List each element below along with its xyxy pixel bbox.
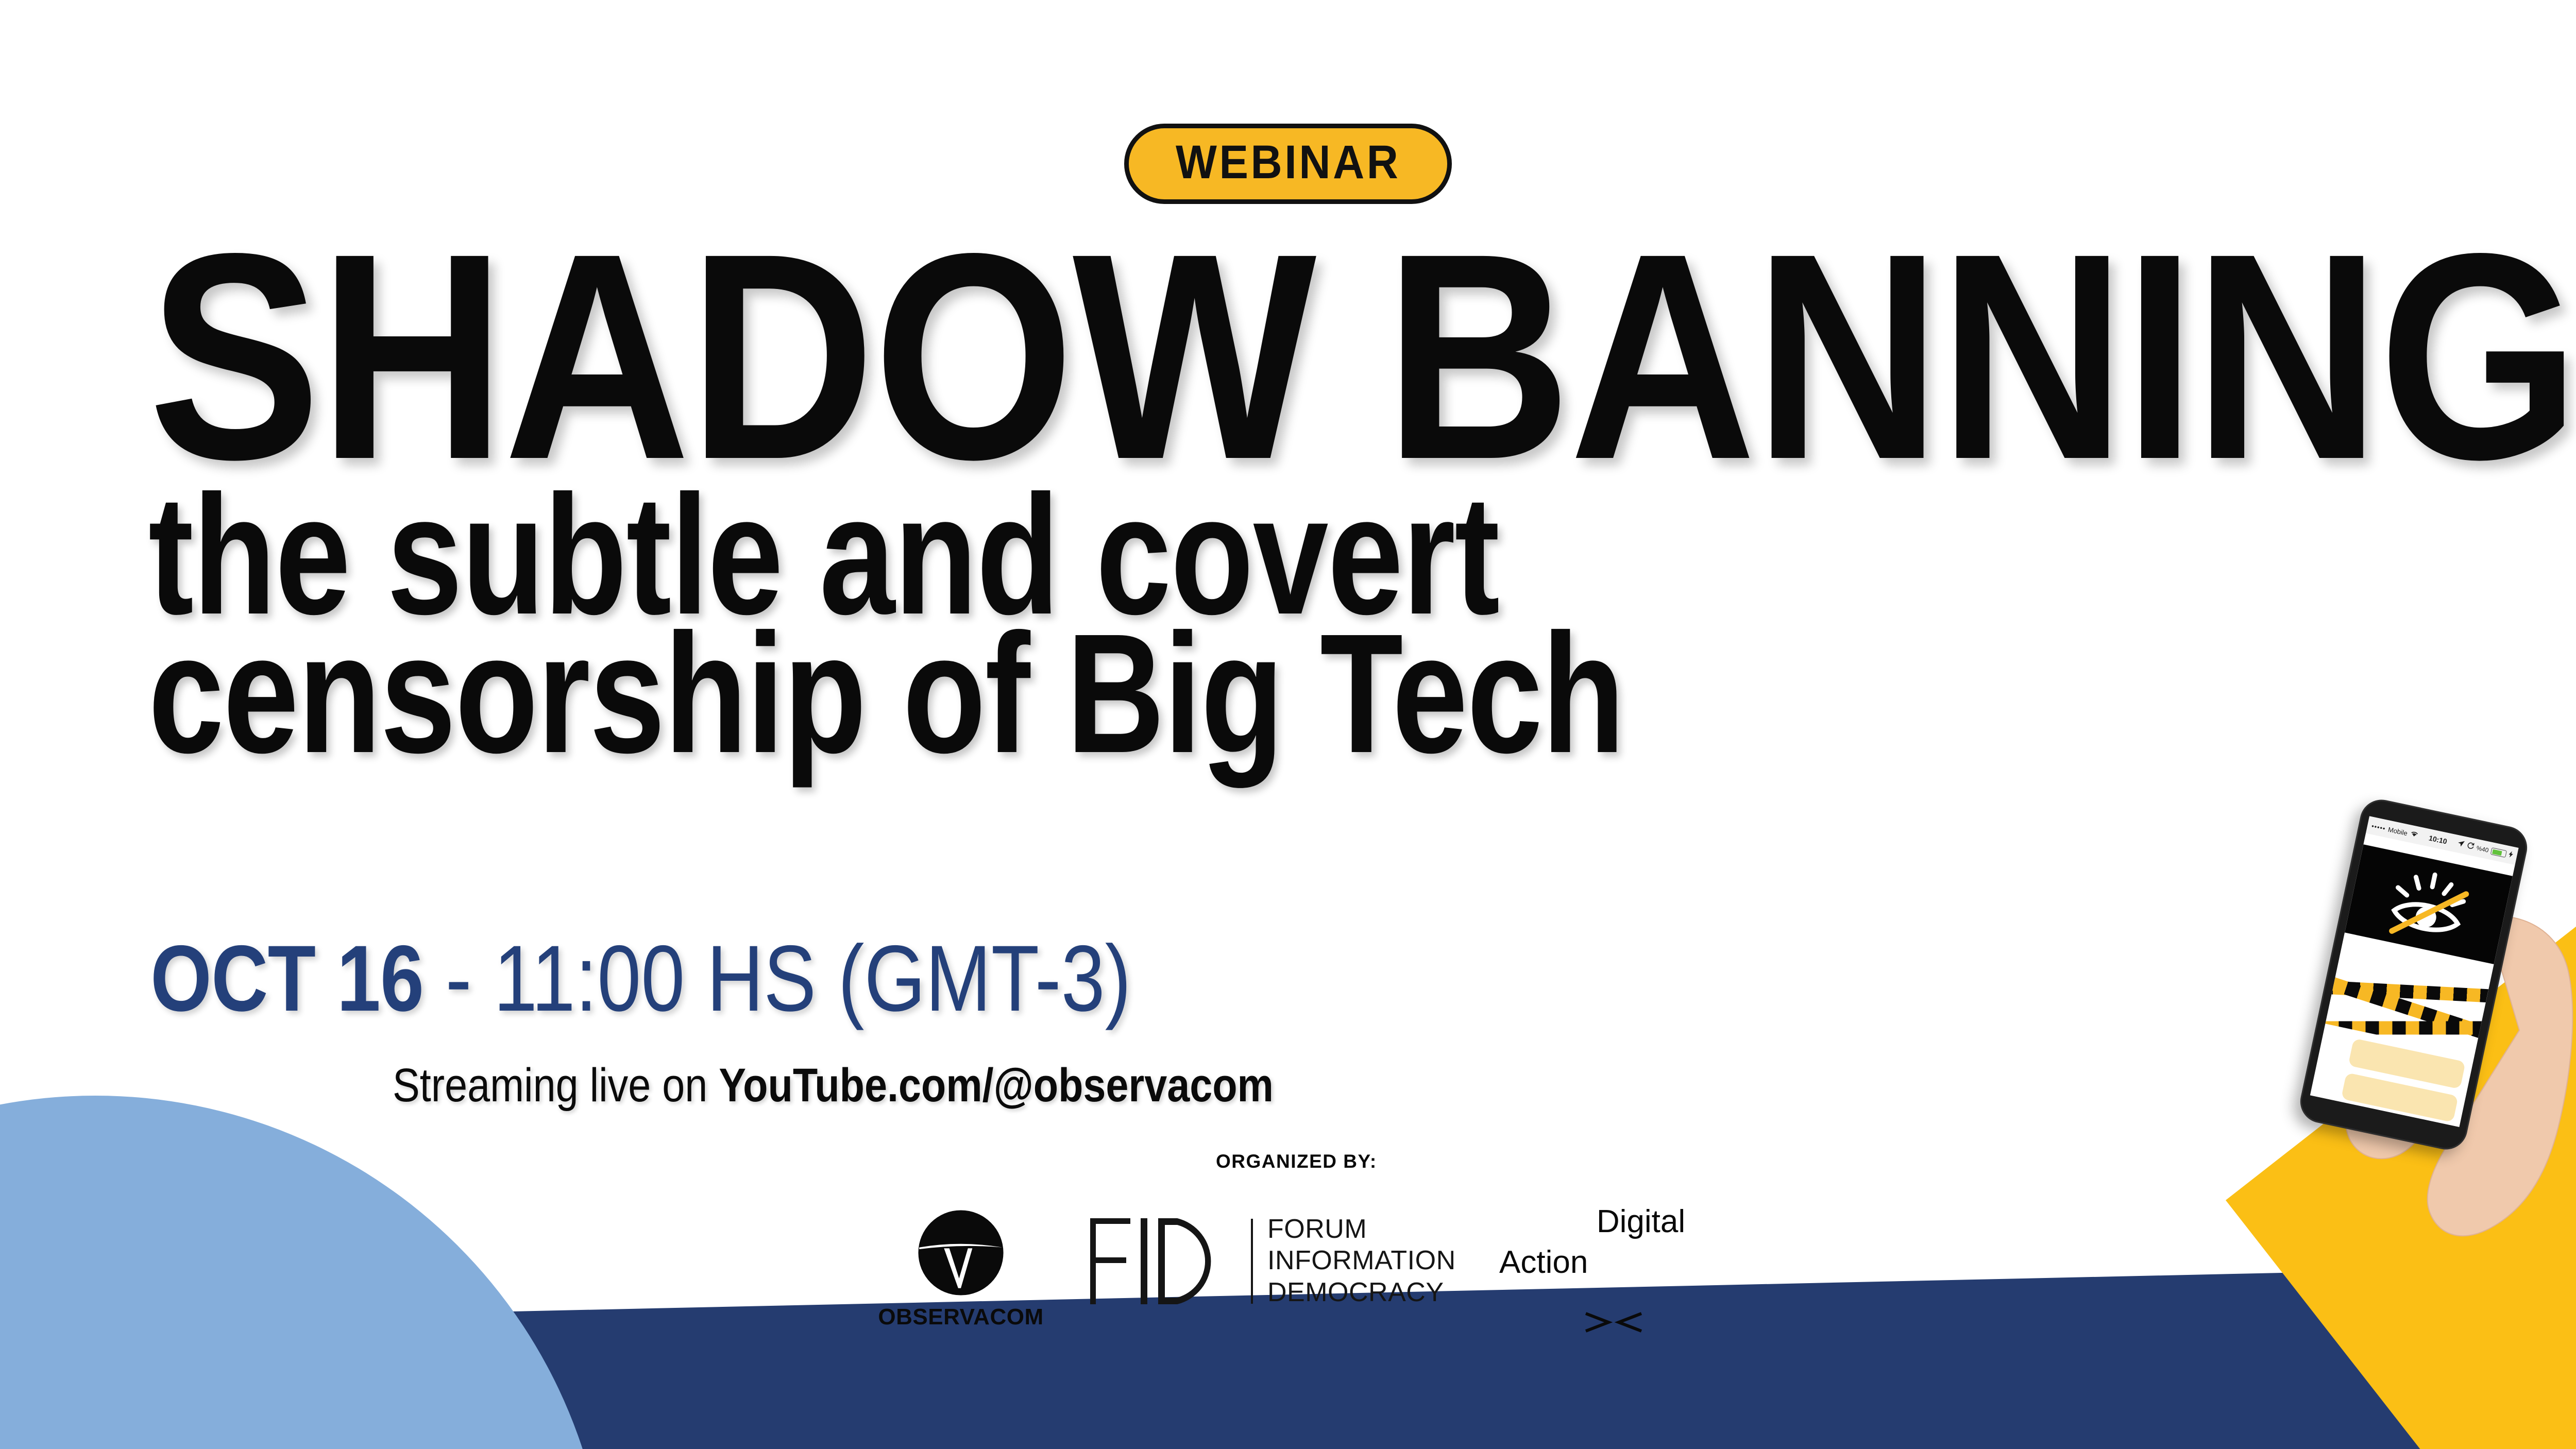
logo-observacom[interactable]: OBSERVACOM — [876, 1208, 1046, 1330]
fid-monogram-icon — [1087, 1216, 1236, 1306]
fid-word-forum: FORUM — [1267, 1214, 1456, 1245]
blue-circle-shape — [0, 1096, 608, 1449]
battery-icon — [2490, 847, 2507, 858]
refresh-icon — [2466, 841, 2475, 852]
event-datetime: OCT 16 - 11:00 HS (GMT-3) — [150, 931, 1131, 1025]
logo-digital-action[interactable]: Digital Action — [1499, 1201, 1716, 1356]
digital-action-word-digital: Digital — [1499, 1201, 1716, 1242]
location-arrow-icon — [2456, 839, 2465, 850]
fid-word-information: INFORMATION — [1267, 1245, 1456, 1276]
battery-percent-label: %40 — [2476, 844, 2489, 854]
phone-mockup-scene: ••••• Mobile 10:10 — [2282, 788, 2576, 1252]
carrier-label: Mobile — [2387, 825, 2409, 837]
fid-divider — [1251, 1219, 1253, 1304]
subtitle-line-2: censorship of Big Tech — [148, 615, 2003, 772]
signal-dots-icon: ••••• — [2371, 822, 2386, 832]
observacom-mark-icon — [917, 1208, 1005, 1297]
organized-by-label: ORGANIZED BY: — [1216, 1151, 1377, 1172]
streaming-channel-link[interactable]: YouTube.com/@observacom — [719, 1059, 1274, 1112]
headline-block: SHADOW BANNING the subtle and covert cen… — [148, 242, 2467, 772]
fid-wordmark: FORUM INFORMATION DEMOCRACY — [1267, 1214, 1456, 1308]
wifi-icon — [2409, 829, 2419, 840]
streaming-info: Streaming live on YouTube.com/@observaco… — [393, 1059, 1274, 1113]
digital-action-arrows-icon — [1499, 1311, 1716, 1336]
clock-label: 10:10 — [2420, 832, 2456, 847]
fid-word-democracy: DEMOCRACY — [1267, 1277, 1456, 1308]
logo-fid[interactable]: FORUM INFORMATION DEMOCRACY — [1087, 1214, 1456, 1308]
event-time: - 11:00 HS (GMT-3) — [446, 926, 1131, 1031]
observacom-wordmark: OBSERVACOM — [876, 1304, 1046, 1330]
charging-bolt-icon — [2508, 850, 2514, 860]
webinar-badge-label: WEBINAR — [1176, 139, 1401, 186]
page-title: SHADOW BANNING — [148, 242, 2189, 471]
eye-crossed-out-icon — [2372, 856, 2484, 952]
digital-action-word-action: Action — [1499, 1242, 1716, 1283]
organizer-logos-row: OBSERVACOM FORUM INFORMATIO — [845, 1200, 1824, 1370]
event-date: OCT 16 — [150, 926, 423, 1031]
streaming-prefix: Streaming live on — [393, 1059, 719, 1112]
